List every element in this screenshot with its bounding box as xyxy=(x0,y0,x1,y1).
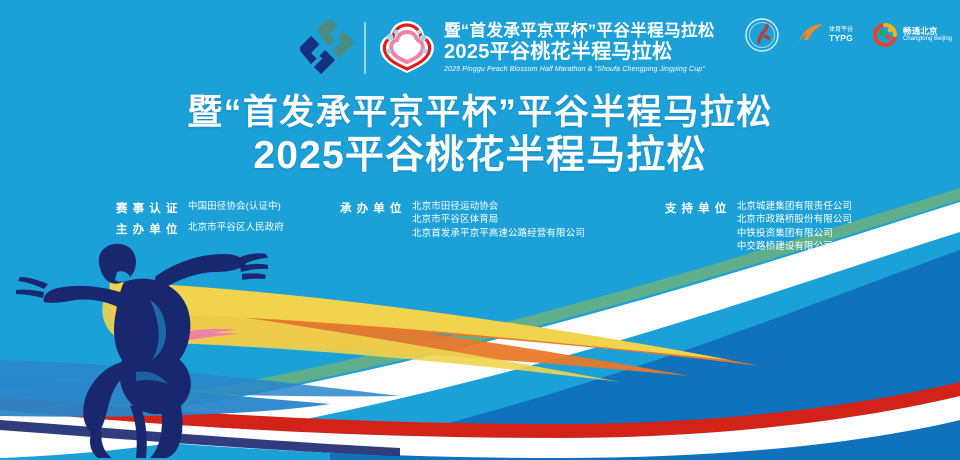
typg-caption-cn: 体育平谷 xyxy=(829,27,853,33)
lockup-line3-english: 2025 Pinggu Peach Blossom Half Marathon … xyxy=(444,65,715,74)
credit-label: 承办单位 xyxy=(340,200,402,216)
credits-column-1: 赛事认证 中国田径协会(认证中) 主办单位 北京市平谷区人民政府 xyxy=(116,200,284,254)
changtong-circle-icon xyxy=(871,22,899,48)
credit-value: 北京城建集团有限责任公司 xyxy=(737,200,852,213)
credits-block: 赛事认证 中国田径协会(认证中) 主办单位 北京市平谷区人民政府 承办单位 北京… xyxy=(0,200,960,254)
lockup-divider xyxy=(364,22,366,74)
title-line-2: 2025平谷桃花半程马拉松 xyxy=(0,135,960,178)
credits-column-2: 承办单位 北京市田径运动协会 北京市平谷区体育局 北京首发承平京平高速公路经营有… xyxy=(340,200,585,254)
credit-value: 北京市政路桥股份有限公司 xyxy=(737,213,852,226)
credit-value: 中国田径协会(认证中) xyxy=(188,200,281,213)
credit-label: 支持单位 xyxy=(665,200,727,216)
credit-group-host: 承办单位 北京市田径运动协会 北京市平谷区体育局 北京首发承平京平高速公路经营有… xyxy=(340,200,585,240)
title-line-1: 暨“首发承平京平杯”平谷半程马拉松 xyxy=(0,93,960,133)
credit-group-organizer: 主办单位 北京市平谷区人民政府 xyxy=(116,221,284,237)
changtong-caption: 畅通北京 Changtong Beijing xyxy=(903,27,952,44)
typg-caption-en: TYPG xyxy=(829,34,853,44)
credit-value: 北京市田径运动协会 xyxy=(412,200,585,213)
credit-values: 中国田径协会(认证中) xyxy=(188,200,281,213)
credit-label: 主办单位 xyxy=(116,221,178,237)
credit-group-certification: 赛事认证 中国田径协会(认证中) xyxy=(116,200,284,216)
main-titles: 暨“首发承平京平杯”平谷半程马拉松 2025平谷桃花半程马拉松 xyxy=(0,93,960,178)
shoufa-s-logo xyxy=(300,20,356,76)
peach-blossom-emblem xyxy=(376,17,438,79)
header-logo-row: 暨“首发承平京平杯”平谷半程马拉松 2025平谷桃花半程马拉松 2025 Pin… xyxy=(0,10,960,82)
credit-value: 北京首发承平京平高速公路经营有限公司 xyxy=(412,227,585,240)
credit-values: 北京城建集团有限责任公司 北京市政路桥股份有限公司 中铁投资集团有限公司 中交路… xyxy=(737,200,852,254)
credit-value: 中交路桥建设有限公司 xyxy=(737,240,852,253)
credit-values: 北京市平谷区人民政府 xyxy=(188,221,284,234)
credit-values: 北京市田径运动协会 北京市平谷区体育局 北京首发承平京平高速公路经营有限公司 xyxy=(412,200,585,240)
credits-column-3: 支持单位 北京城建集团有限责任公司 北京市政路桥股份有限公司 中铁投资集团有限公… xyxy=(665,200,852,254)
seal-icon xyxy=(745,18,779,52)
changtong-beijing-logo: 畅通北京 Changtong Beijing xyxy=(871,22,952,48)
poster-canvas: 暨“首发承平京平杯”平谷半程马拉松 2025平谷桃花半程马拉松 2025 Pin… xyxy=(0,0,960,460)
changtong-caption-cn: 畅通北京 xyxy=(903,27,952,37)
typg-swoosh-icon xyxy=(797,22,825,48)
athletics-association-seal-logo xyxy=(745,18,779,52)
partner-logos: 体育平谷 TYPG 畅通北京 Changtong Beijing xyxy=(745,18,952,52)
typg-logo: 体育平谷 TYPG xyxy=(797,22,853,48)
credit-label: 赛事认证 xyxy=(116,200,178,216)
event-lockup: 暨“首发承平京平杯”平谷半程马拉松 2025平谷桃花半程马拉松 2025 Pin… xyxy=(300,14,715,82)
credit-group-support: 支持单位 北京城建集团有限责任公司 北京市政路桥股份有限公司 中铁投资集团有限公… xyxy=(665,200,852,254)
lockup-line1: 暨“首发承平京平杯”平谷半程马拉松 xyxy=(444,22,715,41)
credit-value: 中铁投资集团有限公司 xyxy=(737,227,852,240)
changtong-caption-en: Changtong Beijing xyxy=(903,36,952,42)
lockup-text: 暨“首发承平京平杯”平谷半程马拉松 2025平谷桃花半程马拉松 2025 Pin… xyxy=(444,22,715,73)
lockup-line2: 2025平谷桃花半程马拉松 xyxy=(444,41,715,63)
typg-caption: 体育平谷 TYPG xyxy=(829,27,853,44)
credit-value: 北京市平谷区人民政府 xyxy=(188,221,284,234)
credit-value: 北京市平谷区体育局 xyxy=(412,213,585,226)
